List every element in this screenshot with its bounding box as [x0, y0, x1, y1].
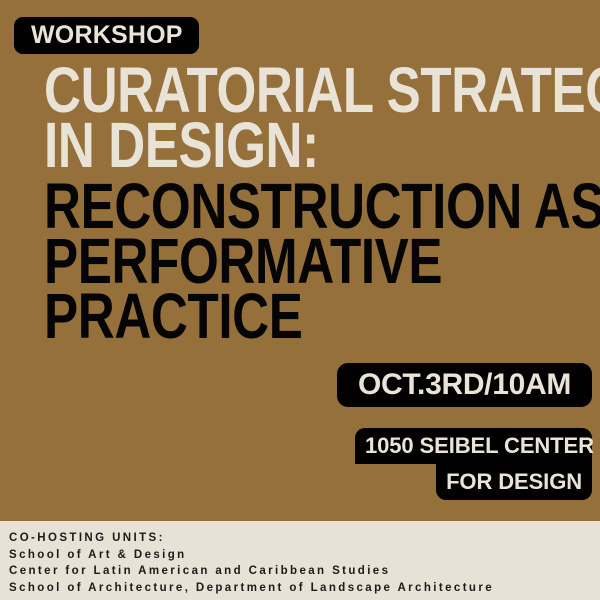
date-time-badge: OCT.3RD/10AM	[337, 363, 592, 407]
venue-line-2: FOR DESIGN	[436, 464, 592, 500]
co-hosting-footer: CO-HOSTING UNITS: School of Art & Design…	[0, 521, 600, 600]
title-line-2: IN DESIGN:	[44, 118, 480, 173]
date-time-label: OCT.3RD/10AM	[358, 370, 571, 400]
poster-title: CURATORIAL STRATEGIES IN DESIGN: RECONST…	[44, 63, 589, 344]
title-line-5: PRACTICE	[44, 289, 480, 344]
footer-line-heading: CO-HOSTING UNITS:	[9, 530, 600, 547]
event-poster: WORKSHOP CURATORIAL STRATEGIES IN DESIGN…	[0, 0, 600, 600]
footer-line-2: Center for Latin American and Caribbean …	[9, 563, 600, 580]
workshop-badge: WORKSHOP	[14, 17, 199, 54]
venue-line-1: 1050 SEIBEL CENTER	[355, 428, 592, 464]
footer-line-3: School of Architecture, Department of La…	[9, 580, 600, 597]
footer-line-1: School of Art & Design	[9, 547, 600, 564]
venue-badge: 1050 SEIBEL CENTER FOR DESIGN	[355, 428, 592, 500]
workshop-badge-label: WORKSHOP	[31, 23, 183, 48]
